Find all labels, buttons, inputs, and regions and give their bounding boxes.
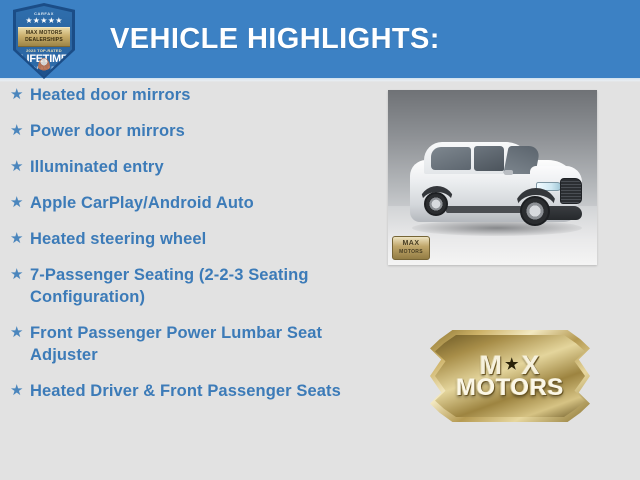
front-grille	[560, 178, 582, 204]
rear-window	[431, 147, 471, 170]
star-bullet-icon: ★	[10, 264, 30, 286]
list-item: ★ Power door mirrors	[0, 120, 380, 142]
header-divider	[0, 78, 640, 82]
highlight-label: 7-Passenger Seating (2-2-3 Seating Confi…	[30, 264, 380, 308]
highlight-label: Heated Driver & Front Passenger Seats	[30, 380, 380, 402]
list-item: ★ 7-Passenger Seating (2-2-3 Seating Con…	[0, 264, 380, 308]
list-item: ★ Illuminated entry	[0, 156, 380, 178]
highlight-label: Heated steering wheel	[30, 228, 380, 250]
rocker-panel	[446, 206, 522, 213]
photo-watermark-logo: MAX MOTORS	[392, 236, 430, 260]
page-title: VEHICLE HIGHLIGHTS:	[110, 0, 440, 78]
badge-gold-band: MAX MOTORS DEALERSHIPS	[18, 27, 70, 47]
star-bullet-icon: ★	[10, 192, 30, 214]
star-bullet-icon: ★	[10, 322, 30, 344]
logo-motors-text: MOTORS	[456, 376, 564, 400]
carfax-stars-icon: ★★★★★	[16, 16, 72, 25]
badge-dealer-name-line1: MAX MOTORS	[18, 30, 70, 36]
rear-wheel	[424, 192, 448, 216]
star-bullet-icon: ★	[10, 228, 30, 250]
badge-dealer-name-line2: DEALERSHIPS	[18, 37, 70, 43]
suv-illustration	[404, 134, 584, 242]
star-bullet-icon: ★	[10, 156, 30, 178]
front-wheel	[520, 196, 550, 226]
watermark-line2: MOTORS	[399, 248, 423, 256]
shield-body: CARFAX ★★★★★ MAX MOTORS DEALERSHIPS 2023…	[16, 6, 72, 76]
list-item: ★ Heated door mirrors	[0, 84, 380, 106]
star-bullet-icon: ★	[10, 84, 30, 106]
list-item: ★ Heated Driver & Front Passenger Seats	[0, 380, 380, 402]
max-motors-logo[interactable]: M ★ X MOTORS	[430, 330, 590, 422]
star-bullet-icon: ★	[10, 120, 30, 142]
side-mirror	[504, 170, 513, 175]
highlight-label: Illuminated entry	[30, 156, 380, 178]
list-item: ★ Heated steering wheel	[0, 228, 380, 250]
watermark-line1: MAX	[402, 240, 419, 248]
side-window	[474, 146, 504, 171]
carfax-top-rated-dealer-badge-icon: CARFAX ★★★★★ MAX MOTORS DEALERSHIPS 2023…	[13, 3, 75, 79]
vehicle-shadow	[412, 220, 582, 236]
highlight-label: Apple CarPlay/Android Auto	[30, 192, 380, 214]
vehicle-photo[interactable]: MAX MOTORS	[388, 90, 597, 265]
highlight-label: Heated door mirrors	[30, 84, 380, 106]
list-item: ★ Front Passenger Power Lumbar Seat Adju…	[0, 322, 380, 366]
logo-plate-inner: M ★ X MOTORS	[435, 335, 585, 417]
list-item: ★ Apple CarPlay/Android Auto	[0, 192, 380, 214]
vehicle-highlights-list: ★ Heated door mirrors ★ Power door mirro…	[0, 84, 380, 416]
highlight-label: Power door mirrors	[30, 120, 380, 142]
star-bullet-icon: ★	[10, 380, 30, 402]
highlight-label: Front Passenger Power Lumbar Seat Adjust…	[30, 322, 380, 366]
